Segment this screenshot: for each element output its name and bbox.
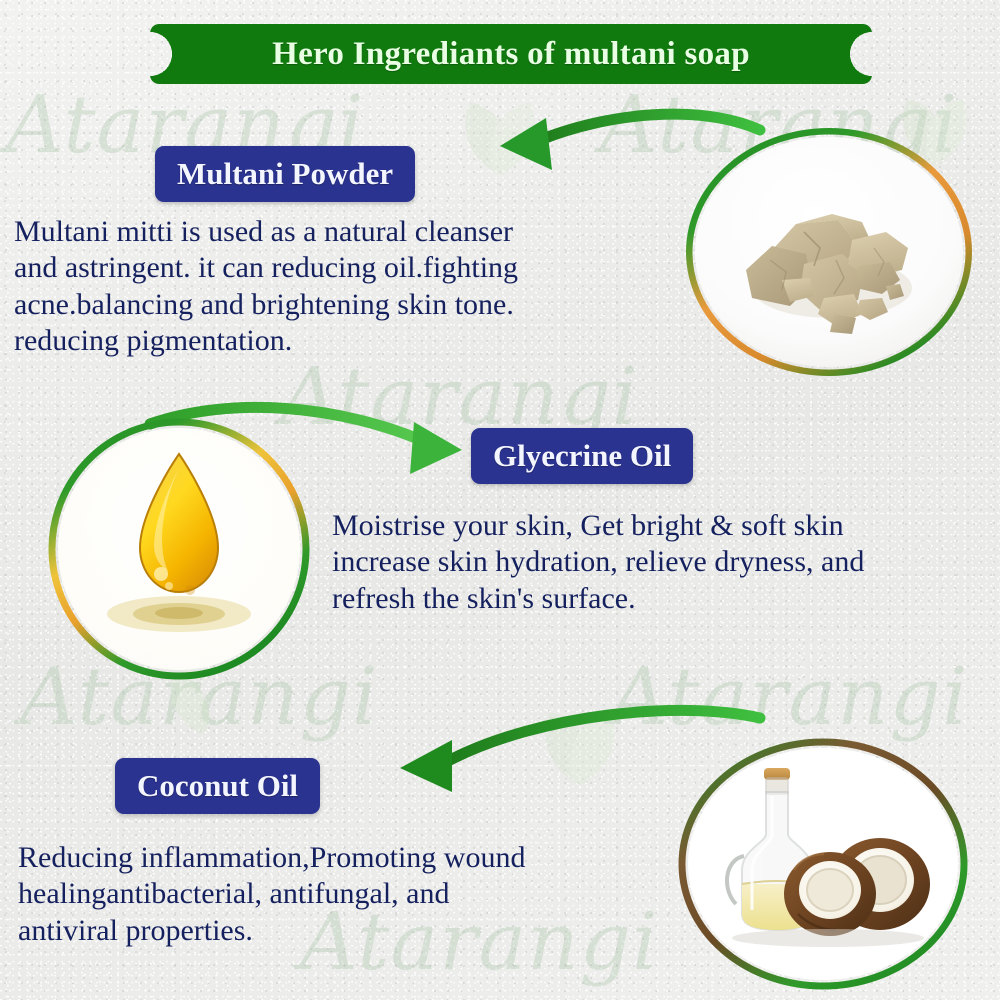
watermark-atarangi-5: Atarangi xyxy=(610,650,968,743)
coconut-oil-bottle-and-coconut-halves-icon xyxy=(678,738,968,990)
header-banner: Hero Ingrediants of multani soap xyxy=(150,24,872,84)
image-coconut-oil xyxy=(678,738,968,990)
arrow-to-multani-powder xyxy=(500,114,760,170)
arrow-to-coconut-oil xyxy=(400,710,760,792)
golden-oil-droplet-icon xyxy=(48,418,310,680)
description-glyecrine-oil: Moistrise your skin, Get bright & soft s… xyxy=(332,508,992,617)
infographic-canvas: Atarangi Atarangi Atarangi Atarangi Atar… xyxy=(0,0,1000,1000)
label-multani-powder-text: Multani Powder xyxy=(177,156,393,192)
label-multani-powder[interactable]: Multani Powder xyxy=(155,146,415,202)
label-glyecrine-oil[interactable]: Glyecrine Oil xyxy=(471,428,693,484)
image-multani-mitti xyxy=(686,128,972,376)
label-coconut-oil[interactable]: Coconut Oil xyxy=(115,758,320,814)
description-multani-powder: Multani mitti is used as a natural clean… xyxy=(14,214,674,360)
description-coconut-oil: Reducing inflammation,Promoting wound he… xyxy=(18,840,678,949)
leaf-ornament-icon xyxy=(520,700,640,790)
page-title: Hero Ingrediants of multani soap xyxy=(150,24,872,84)
label-glyecrine-oil-text: Glyecrine Oil xyxy=(493,438,671,474)
multani-mitti-clay-chunks-icon xyxy=(686,128,972,376)
label-coconut-oil-text: Coconut Oil xyxy=(137,768,298,804)
image-glycerine-oil xyxy=(48,418,310,680)
coconut-half-front xyxy=(784,852,876,936)
leaf-ornament-icon xyxy=(440,90,560,180)
